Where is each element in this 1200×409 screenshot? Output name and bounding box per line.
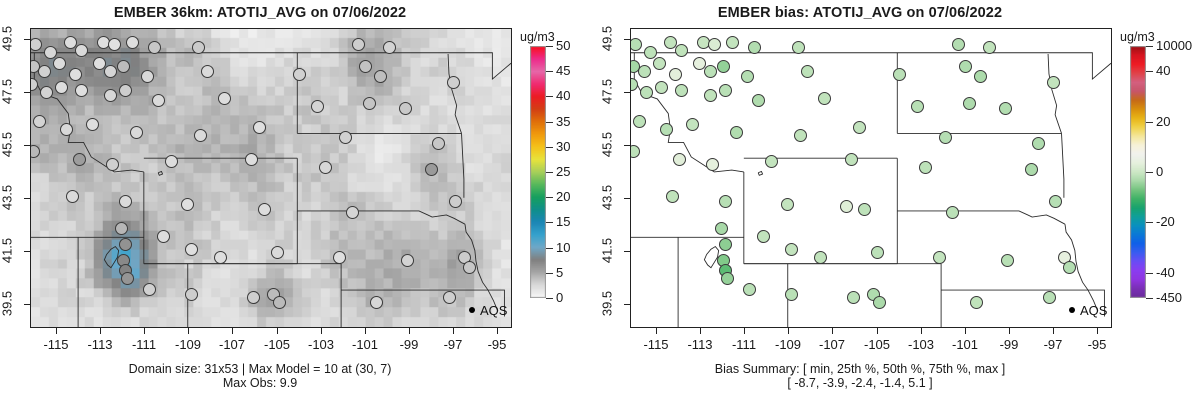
observation-marker[interactable] <box>717 60 730 73</box>
observation-marker[interactable] <box>959 60 972 73</box>
observation-marker[interactable] <box>726 36 739 49</box>
x-axis-tick <box>56 328 57 334</box>
observation-marker[interactable] <box>181 198 194 211</box>
observation-marker[interactable] <box>119 238 132 251</box>
observation-marker[interactable] <box>675 44 688 57</box>
colorbar-tick <box>546 298 553 299</box>
observation-marker[interactable] <box>218 92 231 105</box>
colorbar-tick <box>546 172 553 173</box>
caption-model-line2: Max Obs: 9.9 <box>0 376 520 390</box>
observation-marker[interactable] <box>999 102 1012 115</box>
observation-marker[interactable] <box>785 243 798 256</box>
y-axis-tick-label: 45.5 <box>0 122 15 168</box>
caption-bias-line2: [ -8.7, -3.9, -2.4, -1.4, 5.1 ] <box>600 376 1120 390</box>
y-axis-tick <box>624 39 630 40</box>
observation-marker[interactable] <box>748 41 761 54</box>
observation-marker[interactable] <box>117 60 130 73</box>
observation-marker[interactable] <box>247 291 260 304</box>
observation-marker[interactable] <box>447 76 460 89</box>
observation-marker[interactable] <box>30 145 40 158</box>
observation-marker[interactable] <box>781 198 794 211</box>
observation-marker[interactable] <box>185 243 198 256</box>
observation-marker[interactable] <box>706 158 719 171</box>
colorbar-bias <box>1130 46 1146 298</box>
observation-marker[interactable] <box>119 84 132 97</box>
observation-marker[interactable] <box>704 89 717 102</box>
colorbar-tick <box>546 46 553 47</box>
colorbar-tick <box>546 222 553 223</box>
x-axis-tick <box>365 328 366 334</box>
colorbar-tick <box>1146 71 1153 72</box>
observation-marker[interactable] <box>126 36 139 49</box>
observation-marker[interactable] <box>115 222 128 235</box>
state-boundary-path <box>462 133 464 197</box>
observation-marker[interactable] <box>75 84 88 97</box>
colorbar-tick <box>1146 298 1153 299</box>
colorbar-tick <box>546 248 553 249</box>
colorbar-tick-label: 35 <box>556 114 570 129</box>
observation-marker[interactable] <box>1032 137 1045 150</box>
observation-marker[interactable] <box>704 65 717 78</box>
observation-marker[interactable] <box>933 251 946 264</box>
x-axis-tick <box>321 328 322 334</box>
colorbar-model <box>530 46 546 298</box>
x-axis-tick-label: -95 <box>1067 337 1127 352</box>
observation-marker[interactable] <box>443 291 456 304</box>
y-axis-tick-label: 47.5 <box>0 69 15 115</box>
colorbar-tick-label: 45 <box>556 63 570 78</box>
observation-marker[interactable] <box>104 65 117 78</box>
panel-bias-title: EMBER bias: ATOTIJ_AVG on 07/06/2022 <box>600 5 1120 21</box>
observation-marker[interactable] <box>719 84 732 97</box>
observation-marker[interactable] <box>201 65 214 78</box>
y-axis-tick <box>624 92 630 93</box>
y-axis-tick <box>24 92 30 93</box>
state-boundary-path <box>1048 54 1061 133</box>
y-axis-tick <box>624 304 630 305</box>
y-axis-tick <box>624 145 630 146</box>
x-axis-tick <box>921 328 922 334</box>
y-axis-tick-label: 41.5 <box>0 228 15 274</box>
x-axis-tick <box>965 328 966 334</box>
colorbar-tick-label: 25 <box>556 164 570 179</box>
observation-marker[interactable] <box>104 89 117 102</box>
observation-marker[interactable] <box>258 203 271 216</box>
colorbar-tick <box>1146 273 1153 274</box>
observation-marker[interactable] <box>293 68 306 81</box>
colorbar-tick-label: 40 <box>556 88 570 103</box>
observation-marker[interactable] <box>814 251 827 264</box>
observation-marker[interactable] <box>630 145 640 158</box>
colorbar-tick <box>546 197 553 198</box>
y-axis-tick-label: 49.5 <box>0 16 15 62</box>
x-axis-tick <box>497 328 498 334</box>
observation-marker[interactable] <box>370 296 383 309</box>
observation-marker[interactable] <box>669 68 682 81</box>
colorbar-tick <box>546 71 553 72</box>
y-axis-tick-label: 41.5 <box>600 228 615 274</box>
x-axis-tick <box>1009 328 1010 334</box>
observation-marker[interactable] <box>919 161 932 174</box>
panel-model-title: EMBER 36km: ATOTIJ_AVG on 07/06/2022 <box>0 5 520 21</box>
observation-marker[interactable] <box>715 222 728 235</box>
colorbar-units-bias: ug/m3 <box>1120 30 1155 44</box>
observation-marker[interactable] <box>359 60 372 73</box>
x-axis-tick <box>656 328 657 334</box>
aqs-legend-dot-model <box>469 307 475 313</box>
observation-marker[interactable] <box>130 126 143 139</box>
observation-marker[interactable] <box>346 206 359 219</box>
x-axis-tick-label: -95 <box>467 337 527 352</box>
x-axis-tick <box>100 328 101 334</box>
observation-marker[interactable] <box>40 86 53 99</box>
colorbar-tick <box>1146 46 1153 47</box>
y-axis-tick-label: 47.5 <box>600 69 615 115</box>
observation-marker[interactable] <box>148 41 161 54</box>
y-axis-tick-label: 39.5 <box>0 281 15 327</box>
figure-root: EMBER 36km: ATOTIJ_AVG on 07/06/2022 AQS… <box>0 0 1200 409</box>
x-axis-tick <box>1053 328 1054 334</box>
y-axis-tick <box>624 251 630 252</box>
x-axis-tick <box>1097 328 1098 334</box>
map-boundaries-model <box>31 29 511 327</box>
state-boundary-path <box>1062 133 1064 197</box>
observation-marker[interactable] <box>463 261 476 274</box>
observation-marker[interactable] <box>245 153 258 166</box>
observation-marker[interactable] <box>319 161 332 174</box>
observation-marker[interactable] <box>38 65 51 78</box>
observation-marker[interactable] <box>871 246 884 259</box>
panel-model: EMBER 36km: ATOTIJ_AVG on 07/06/2022 AQS… <box>0 0 600 409</box>
state-boundary-path <box>448 54 461 133</box>
colorbar-tick-label: 0 <box>1156 164 1163 179</box>
observation-marker[interactable] <box>743 283 756 296</box>
observation-marker[interactable] <box>893 68 906 81</box>
y-axis-tick-label: 45.5 <box>600 122 615 168</box>
y-axis-tick <box>24 198 30 199</box>
x-axis-tick <box>700 328 701 334</box>
observation-marker[interactable] <box>73 153 86 166</box>
x-axis-tick <box>409 328 410 334</box>
state-boundary-path <box>897 211 1065 224</box>
observation-marker[interactable] <box>794 129 807 142</box>
y-axis-tick-label: 43.5 <box>600 175 615 221</box>
colorbar-tick-label: -40 <box>1156 265 1175 280</box>
observation-marker[interactable] <box>75 44 88 57</box>
state-boundary-path <box>297 211 465 224</box>
y-axis-tick <box>24 145 30 146</box>
y-axis-tick-label: 43.5 <box>0 175 15 221</box>
colorbar-tick <box>546 273 553 274</box>
colorbar-tick-label: 10 <box>556 240 570 255</box>
observation-marker[interactable] <box>194 129 207 142</box>
observation-marker[interactable] <box>673 153 686 166</box>
plot-area-model[interactable]: AQS <box>30 28 512 328</box>
colorbar-tick-label: 20 <box>556 189 570 204</box>
observation-marker[interactable] <box>719 238 732 251</box>
y-axis-tick <box>24 251 30 252</box>
observation-marker[interactable] <box>858 203 871 216</box>
colorbar-tick <box>1146 122 1153 123</box>
colorbar-tick-label: 0 <box>556 290 563 305</box>
observation-marker[interactable] <box>757 230 770 243</box>
colorbar-tick-label: 40 <box>1156 63 1170 78</box>
observation-marker[interactable] <box>401 254 414 267</box>
colorbar-tick-label: 15 <box>556 214 570 229</box>
observation-marker[interactable] <box>801 65 814 78</box>
caption-bias-line1: Bias Summary: [ min, 25th %, 50th %, 75t… <box>600 362 1120 376</box>
colorbar-tick-label: 30 <box>556 139 570 154</box>
x-axis-tick <box>877 328 878 334</box>
x-axis-tick <box>744 328 745 334</box>
colorbar-tick <box>546 96 553 97</box>
x-axis-tick <box>832 328 833 334</box>
observation-marker[interactable] <box>53 57 66 70</box>
observation-marker[interactable] <box>818 92 831 105</box>
state-boundary-path <box>758 171 762 175</box>
observation-marker[interactable] <box>970 296 983 309</box>
observation-marker[interactable] <box>730 126 743 139</box>
observation-marker[interactable] <box>311 100 324 113</box>
colorbar-tick <box>546 122 553 123</box>
colorbar-tick <box>546 147 553 148</box>
observation-marker[interactable] <box>946 206 959 219</box>
x-axis-tick <box>277 328 278 334</box>
plot-area-bias[interactable]: AQS <box>630 28 1112 328</box>
map-boundaries-bias <box>631 29 1111 327</box>
colorbar-tick-label: 10000 <box>1156 38 1192 53</box>
x-axis-tick <box>232 328 233 334</box>
observation-marker[interactable] <box>333 251 346 264</box>
colorbar-tick-label: 20 <box>1156 114 1170 129</box>
aqs-legend-dot-bias <box>1069 307 1075 313</box>
observation-marker[interactable] <box>69 68 82 81</box>
observation-marker[interactable] <box>638 65 651 78</box>
y-axis-tick-label: 39.5 <box>600 281 615 327</box>
x-axis-tick <box>144 328 145 334</box>
y-axis-tick <box>624 198 630 199</box>
colorbar-tick-label: -20 <box>1156 214 1175 229</box>
observation-marker[interactable] <box>214 251 227 264</box>
y-axis-tick <box>24 39 30 40</box>
observation-marker[interactable] <box>653 57 666 70</box>
y-axis-tick-label: 49.5 <box>600 16 615 62</box>
y-axis-tick <box>24 304 30 305</box>
observation-marker[interactable] <box>845 153 858 166</box>
x-axis-tick <box>188 328 189 334</box>
observation-marker[interactable] <box>792 41 805 54</box>
observation-marker[interactable] <box>157 230 170 243</box>
colorbar-tick-label: 50 <box>556 38 570 53</box>
x-axis-tick <box>453 328 454 334</box>
aqs-legend-label-model: AQS <box>480 303 507 318</box>
colorbar-tick-label: 5 <box>556 265 563 280</box>
observation-marker[interactable] <box>106 158 119 171</box>
observation-marker[interactable] <box>847 291 860 304</box>
observation-marker[interactable] <box>1043 291 1056 304</box>
caption-model-line1: Domain size: 31x53 | Max Model = 10 at (… <box>0 362 520 376</box>
colorbar-units-model: ug/m3 <box>520 30 555 44</box>
observation-marker[interactable] <box>911 100 924 113</box>
state-boundary-path <box>158 171 162 175</box>
observation-marker[interactable] <box>399 102 412 115</box>
observation-marker[interactable] <box>1001 254 1014 267</box>
colorbar-tick-label: -450 <box>1156 290 1182 305</box>
observation-marker[interactable] <box>432 137 445 150</box>
colorbar-tick <box>1146 172 1153 173</box>
observation-marker[interactable] <box>675 84 688 97</box>
panel-bias: EMBER bias: ATOTIJ_AVG on 07/06/2022 AQS… <box>600 0 1200 409</box>
observation-marker[interactable] <box>192 41 205 54</box>
observation-marker[interactable] <box>640 86 653 99</box>
x-axis-tick <box>788 328 789 334</box>
observation-marker[interactable] <box>143 283 156 296</box>
colorbar-tick <box>1146 222 1153 223</box>
observation-marker[interactable] <box>1063 261 1076 274</box>
observation-marker[interactable] <box>271 246 284 259</box>
aqs-legend-label-bias: AQS <box>1080 303 1107 318</box>
observation-marker[interactable] <box>1047 76 1060 89</box>
